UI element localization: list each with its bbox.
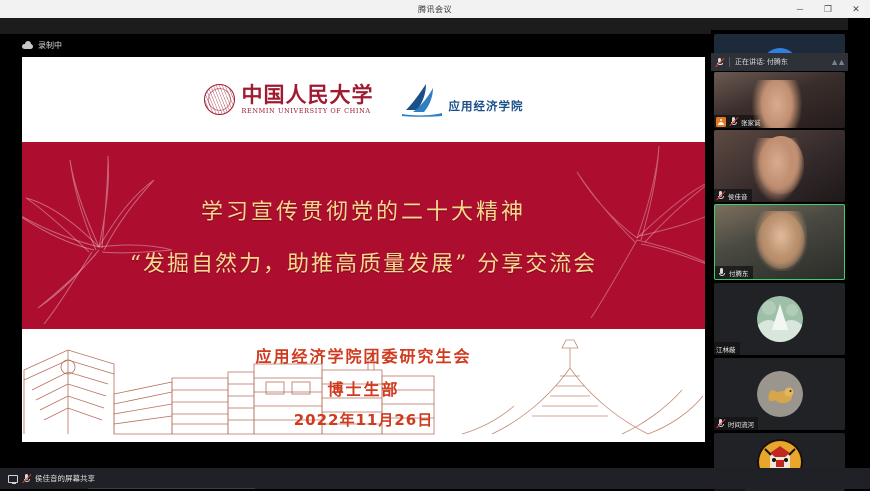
divider xyxy=(729,57,730,67)
participant-tile-4[interactable]: 江林蔽 xyxy=(714,283,845,355)
footer-line-3: 2022年11月26日 xyxy=(294,409,434,430)
participant-name-5: 时间流河 xyxy=(728,419,754,429)
participant-tile-3[interactable]: 付腾东 xyxy=(714,204,845,280)
speaking-status-bar[interactable]: 正在讲话: 付腾东 ▲▲ xyxy=(711,53,848,71)
participant-name-3: 付腾东 xyxy=(729,268,749,278)
rail-right-gutter xyxy=(848,18,870,468)
slide-footer: 应用经济学院团委研究生会 博士生部 2022年11月26日 xyxy=(22,329,705,442)
university-name-en: RENMIN UNIVERSITY OF CHINA xyxy=(242,108,374,115)
bottom-letterbox xyxy=(0,442,711,468)
taskbar: 侯佳音的屏幕共享 xyxy=(0,468,870,489)
participant-name-tag-4: 江林蔽 xyxy=(714,342,740,355)
speaking-label: 正在讲话: 付腾东 xyxy=(735,57,788,67)
slide-footer-text: 应用经济学院团委研究生会 博士生部 2022年11月26日 xyxy=(22,343,705,430)
school-name-cn: 应用经济学院 xyxy=(449,101,524,117)
cloud-icon xyxy=(22,41,33,49)
participant-name-tag-3: 付腾东 xyxy=(715,266,753,279)
taskbar-item-label: 侯佳音的屏幕共享 xyxy=(35,473,95,484)
participant-tile-5[interactable]: 时间流河 xyxy=(714,358,845,430)
close-button[interactable]: ✕ xyxy=(842,0,870,18)
sail-mark-icon xyxy=(400,83,444,117)
mic-on-icon xyxy=(717,268,726,277)
mic-muted-icon xyxy=(716,419,725,428)
avatar-image-forest-icon xyxy=(757,296,803,342)
footer-line-2: 博士生部 xyxy=(327,376,399,400)
monitor-icon xyxy=(8,475,18,483)
chevron-double-up-icon[interactable]: ▲▲ xyxy=(830,58,844,67)
host-badge-icon xyxy=(716,117,726,127)
school-of-applied-economics-logo: 应用经济学院 xyxy=(400,83,524,117)
university-name-cn: 中国人民大学 xyxy=(242,84,374,105)
minimize-button[interactable]: ─ xyxy=(786,0,814,18)
taskbar-screenshare-item[interactable]: 侯佳音的屏幕共享 xyxy=(0,468,103,489)
recording-indicator[interactable]: 录制中 xyxy=(22,38,62,52)
restore-button[interactable]: ❐ xyxy=(814,0,842,18)
participant-name-2: 侯佳音 xyxy=(728,191,748,201)
participant-name-1: 张家诚 xyxy=(741,117,761,127)
participant-name-tag-5: 时间流河 xyxy=(714,417,758,430)
left-letterbox xyxy=(0,34,22,468)
renmin-university-logo: 中国人民大学 RENMIN UNIVERSITY OF CHINA xyxy=(204,84,374,115)
window-titlebar: 腾讯会议 ─ ❐ ✕ xyxy=(0,0,870,18)
recording-label: 录制中 xyxy=(38,40,62,51)
participant-name-tag-2: 侯佳音 xyxy=(714,189,752,202)
meeting-window: 腾讯会议 ─ ❐ ✕ 录制中 中国人民大学 RENMIN UNIVERSITY … xyxy=(0,0,870,489)
participant-rail: 正在讲话: 付腾东 ▲▲ 张家诚 侯佳音 xyxy=(711,30,848,489)
slide-logo-header: 中国人民大学 RENMIN UNIVERSITY OF CHINA 应用经济学院 xyxy=(22,57,705,142)
avatar xyxy=(757,371,803,417)
ruc-seal-icon xyxy=(204,84,235,115)
banner-line-2: “发掘自然力，助推高质量发展” 分享交流会 xyxy=(130,246,598,278)
window-title: 腾讯会议 xyxy=(418,4,452,15)
window-controls: ─ ❐ ✕ xyxy=(786,0,870,18)
participant-name-4: 江林蔽 xyxy=(716,344,736,354)
banner-line-1: 学习宣传贯彻党的二十大精神 xyxy=(201,194,526,226)
slide-banner: 学习宣传贯彻党的二十大精神 “发掘自然力，助推高质量发展” 分享交流会 xyxy=(22,142,705,329)
mic-muted-icon xyxy=(716,191,725,200)
mic-muted-icon xyxy=(729,117,738,126)
avatar xyxy=(757,296,803,342)
participant-tile-1[interactable]: 张家诚 xyxy=(714,72,845,128)
mic-muted-icon xyxy=(22,474,31,483)
shared-screen[interactable]: 中国人民大学 RENMIN UNIVERSITY OF CHINA 应用经济学院 xyxy=(22,57,705,442)
participant-tile-2[interactable]: 侯佳音 xyxy=(714,130,845,202)
footer-line-1: 应用经济学院团委研究生会 xyxy=(255,343,471,367)
avatar-image-squirrel-icon xyxy=(757,371,803,417)
mic-muted-icon xyxy=(715,58,724,67)
participant-name-tag-1: 张家诚 xyxy=(714,115,765,128)
